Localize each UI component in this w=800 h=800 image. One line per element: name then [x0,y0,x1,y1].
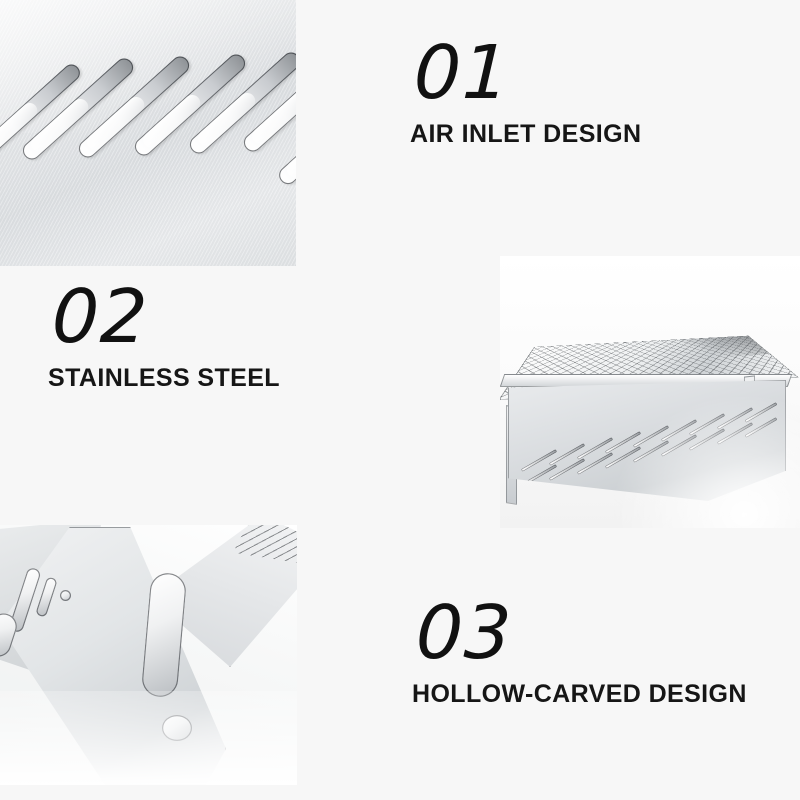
feature-number-01: 01 [409,38,643,108]
feature-block-03: 03 HOLLOW-CARVED DESIGN [412,598,747,707]
feature-block-02: 02 STAINLESS STEEL [48,282,280,391]
feature-title-03: HOLLOW-CARVED DESIGN [412,682,747,707]
feature-number-03: 03 [411,598,748,668]
product-feature-infographic: 01 AIR INLET DESIGN 02 STAINLESS STEEL [0,0,800,800]
stainless-grill-body-photo [500,256,800,528]
metal-sheen-highlight [0,0,296,133]
air-inlet-closeup-photo [0,0,296,266]
background-surface [0,691,297,785]
mesh-shadow [680,336,770,359]
plate-fin-slots [233,525,297,564]
background-glow [614,397,800,528]
feature-block-01: 01 AIR INLET DESIGN [410,38,641,147]
hollow-carved-leg-photo [0,525,297,785]
feature-number-02: 02 [47,282,281,352]
feature-title-02: STAINLESS STEEL [48,366,280,391]
leg-round-cutout-small [60,590,71,601]
feature-title-01: AIR INLET DESIGN [410,122,641,147]
